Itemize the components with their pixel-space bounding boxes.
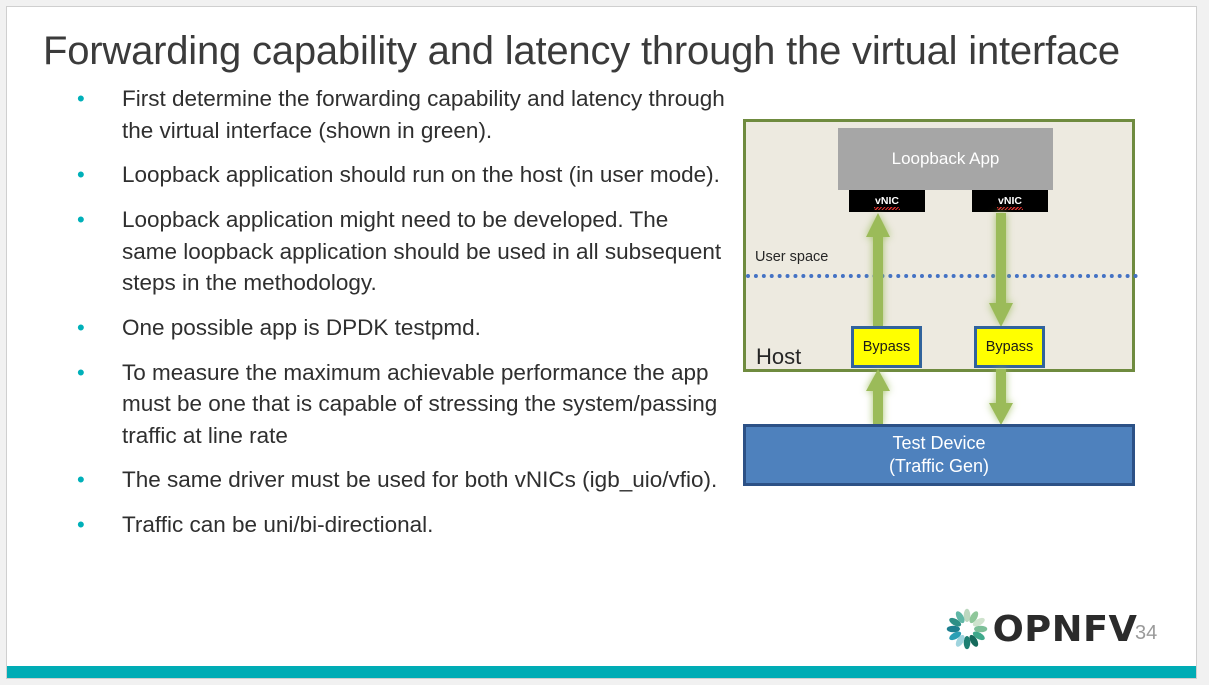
slide-canvas: Forwarding capability and latency throug… — [6, 6, 1197, 679]
test-device-box: Test Device (Traffic Gen) — [743, 424, 1135, 486]
bullet-marker-icon: • — [67, 509, 122, 541]
host-label: Host — [756, 344, 801, 370]
bullet-marker-icon: • — [67, 312, 122, 344]
opnfv-logo: OPNFV — [945, 607, 1136, 651]
arrow-up-icon-vnic-left — [865, 211, 891, 329]
loopback-app-box: Loopback App — [838, 128, 1053, 190]
footer-accent-bar — [7, 666, 1197, 679]
list-item-text: To measure the maximum achievable perfor… — [122, 357, 727, 452]
arrow-down-icon-test-device-right — [988, 367, 1014, 427]
test-device-line2: (Traffic Gen) — [889, 455, 989, 478]
list-item: • Loopback application might need to be … — [67, 204, 727, 299]
vnic-label-left: vNIC — [875, 195, 899, 208]
list-item-text: Loopback application might need to be de… — [122, 204, 727, 299]
bullet-marker-icon: • — [67, 204, 122, 236]
list-item-text: Traffic can be uni/bi-directional. — [122, 509, 727, 541]
bullet-list: • First determine the forwarding capabil… — [67, 83, 727, 554]
vnic-box-right: vNIC — [972, 190, 1048, 212]
test-device-line1: Test Device — [892, 432, 985, 455]
list-item: • One possible app is DPDK testpmd. — [67, 312, 727, 344]
opnfv-wordmark: OPNFV — [993, 609, 1138, 650]
bypass-box-right: Bypass — [974, 326, 1045, 368]
bypass-box-left: Bypass — [851, 326, 922, 368]
bullet-marker-icon: • — [67, 83, 122, 115]
bullet-marker-icon: • — [67, 464, 122, 496]
list-item: • Traffic can be uni/bi-directional. — [67, 509, 727, 541]
bullet-marker-icon: • — [67, 159, 122, 191]
list-item-text: First determine the forwarding capabilit… — [122, 83, 727, 146]
list-item-text: Loopback application should run on the h… — [122, 159, 727, 191]
vnic-label-right: vNIC — [998, 195, 1022, 208]
page-title: Forwarding capability and latency throug… — [43, 27, 1153, 75]
list-item: • Loopback application should run on the… — [67, 159, 727, 191]
user-space-divider-line — [746, 274, 1138, 278]
list-item: • The same driver must be used for both … — [67, 464, 727, 496]
list-item-text: One possible app is DPDK testpmd. — [122, 312, 727, 344]
arrow-down-icon-vnic-right — [988, 211, 1014, 329]
page-number: 34 — [1135, 622, 1157, 645]
user-space-label: User space — [755, 249, 828, 265]
list-item: • First determine the forwarding capabil… — [67, 83, 727, 146]
bullet-marker-icon: • — [67, 357, 122, 389]
list-item-text: The same driver must be used for both vN… — [122, 464, 727, 496]
opnfv-petal-burst-icon — [945, 607, 989, 651]
arrow-up-icon-test-device-left — [865, 367, 891, 427]
architecture-diagram: User space Host Loopback App vNIC vNIC B… — [743, 119, 1138, 486]
vnic-box-left: vNIC — [849, 190, 925, 212]
list-item: • To measure the maximum achievable perf… — [67, 357, 727, 452]
